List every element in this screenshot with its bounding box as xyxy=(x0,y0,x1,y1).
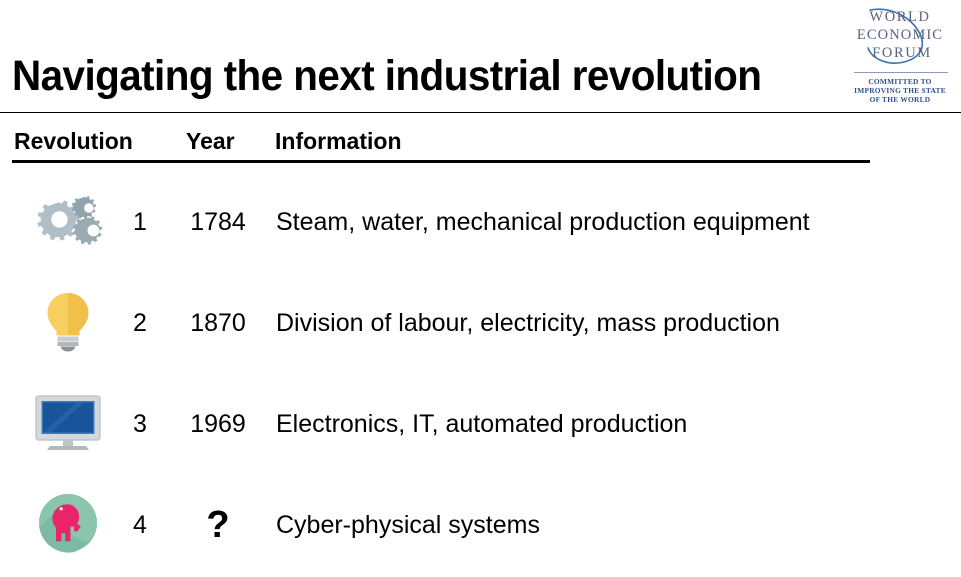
revolution-year: 1870 xyxy=(172,273,264,373)
table-row: 3 1969 Electronics, IT, automated produc… xyxy=(0,374,961,474)
table-header: Revolution Year Information xyxy=(0,128,961,162)
logo-tagline-line-1: COMMITTED TO xyxy=(846,77,954,86)
revolution-year: ? xyxy=(172,475,264,575)
table-row: 2 1870 Division of labour, electricity, … xyxy=(0,273,961,373)
svg-text:FORUM: FORUM xyxy=(872,45,932,61)
logo-divider xyxy=(854,72,948,73)
title-divider xyxy=(0,112,961,113)
page-title: Navigating the next industrial revolutio… xyxy=(12,52,761,100)
revolution-icon-cell xyxy=(24,374,112,474)
revolution-icon-cell xyxy=(24,273,112,373)
revolution-icon-cell xyxy=(24,172,112,272)
revolution-icon-cell xyxy=(24,475,112,575)
revolution-year: 1969 xyxy=(172,374,264,474)
slide-canvas: WORLD ECONOMIC FORUM COMMITTED TO IMPROV… xyxy=(0,0,961,577)
wef-logo-mark: WORLD ECONOMIC FORUM xyxy=(846,4,954,70)
logo-tagline-line-2: IMPROVING THE STATE xyxy=(846,86,954,95)
revolution-number: 3 xyxy=(120,374,160,474)
table-row: 4 ? Cyber-physical systems xyxy=(0,475,961,575)
revolution-number: 1 xyxy=(120,172,160,272)
column-header-year: Year xyxy=(186,128,235,155)
revolution-info: Steam, water, mechanical production equi… xyxy=(276,172,951,272)
world-economic-forum-logo: WORLD ECONOMIC FORUM COMMITTED TO IMPROV… xyxy=(846,4,954,108)
gears-icon xyxy=(31,191,105,254)
column-header-revolution: Revolution xyxy=(14,128,133,155)
svg-text:ECONOMIC: ECONOMIC xyxy=(857,27,943,43)
revolution-info: Electronics, IT, automated production xyxy=(276,374,951,474)
brain-head-icon xyxy=(38,493,98,558)
revolution-number: 4 xyxy=(120,475,160,575)
svg-text:WORLD: WORLD xyxy=(869,9,930,25)
revolution-info: Cyber-physical systems xyxy=(276,475,951,575)
revolution-info: Division of labour, electricity, mass pr… xyxy=(276,273,951,373)
revolution-year: 1784 xyxy=(172,172,264,272)
lightbulb-icon xyxy=(40,290,96,357)
table-header-divider xyxy=(12,160,870,163)
table-row: 1 1784 Steam, water, mechanical producti… xyxy=(0,172,961,272)
logo-tagline: COMMITTED TO IMPROVING THE STATE OF THE … xyxy=(846,77,954,105)
column-header-information: Information xyxy=(275,128,402,155)
revolution-number: 2 xyxy=(120,273,160,373)
logo-tagline-line-3: OF THE WORLD xyxy=(846,95,954,104)
monitor-icon xyxy=(32,393,104,456)
